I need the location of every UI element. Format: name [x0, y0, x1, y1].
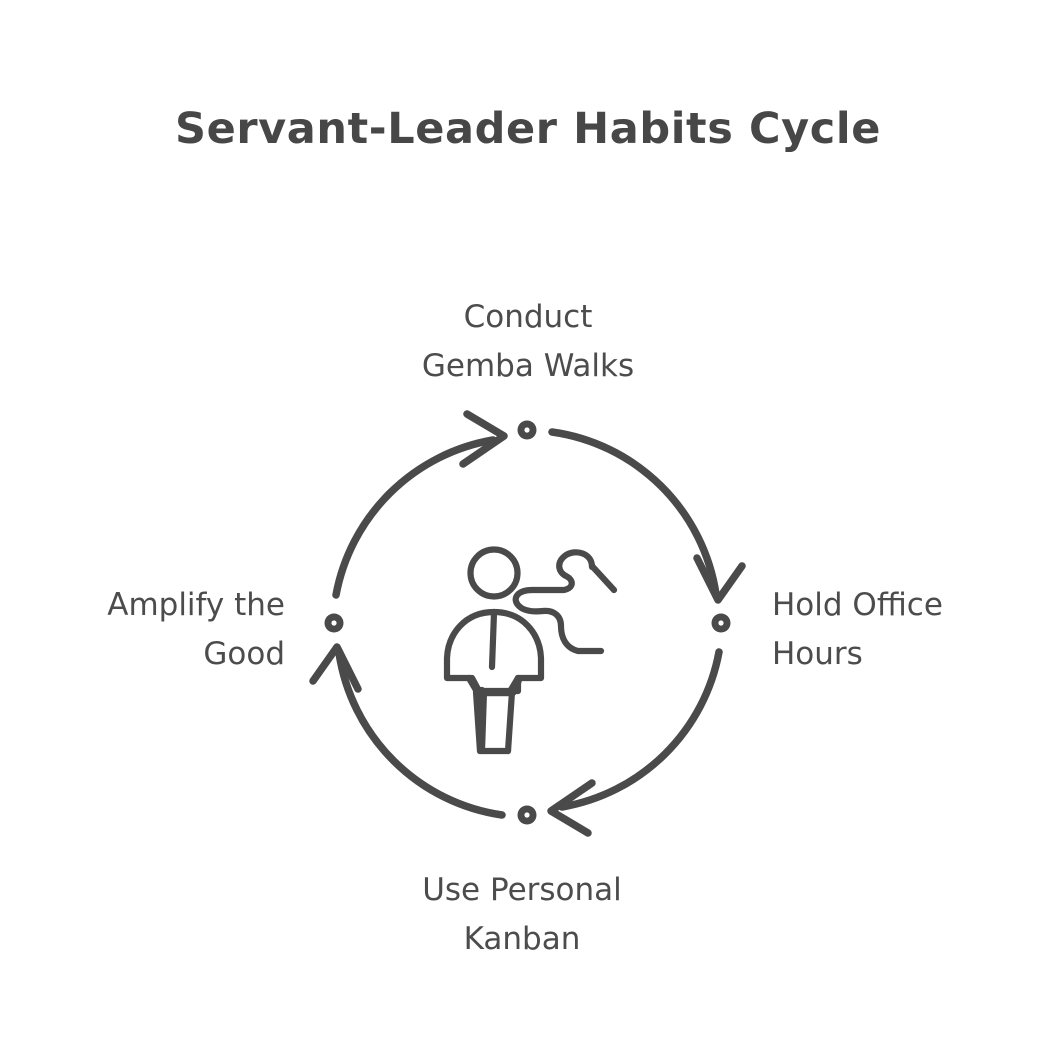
node-dot-bottom-center	[524, 812, 529, 817]
arrow-top-to-right	[552, 432, 716, 594]
arrowhead-top-to-right	[697, 558, 742, 600]
node-label-left: Amplify the Good	[25, 581, 285, 679]
person-head-icon	[471, 550, 518, 597]
node-dot-left-center	[331, 620, 336, 625]
person-speaking-icon	[447, 550, 614, 752]
node-dot-right-center	[718, 620, 723, 625]
speech-squiggle-tail-icon	[592, 566, 614, 590]
person-collar-icon	[492, 613, 494, 667]
node-label-bottom: Use Personal Kanban	[322, 866, 722, 964]
node-label-right: Hold Office Hours	[772, 581, 1032, 679]
node-label-top: Conduct Gemba Walks	[328, 293, 728, 391]
person-leg-outline-left-icon	[476, 692, 480, 751]
arrowhead-bottom-to-left	[313, 647, 358, 689]
person-leg-outline-right-icon	[508, 692, 512, 751]
node-dot-top-center	[524, 427, 529, 432]
speech-squiggle-icon	[516, 552, 601, 651]
diagram-canvas: Servant-Leader Habits Cycle	[0, 0, 1056, 1056]
